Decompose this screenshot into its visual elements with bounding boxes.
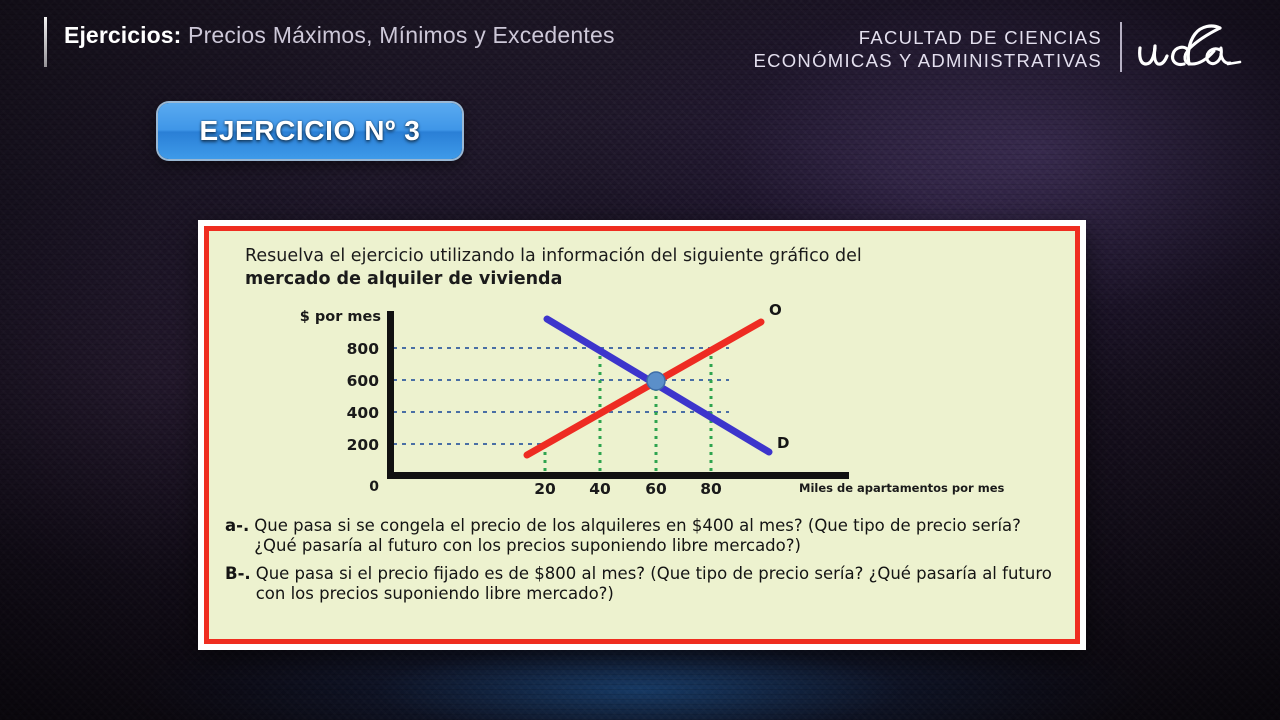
- chart-ytick-800: 800: [347, 340, 380, 358]
- question-item-a: a-. Que pasa si se congela el precio de …: [225, 516, 1063, 555]
- equilibrium-point: [647, 372, 665, 390]
- chart-ytick-600: 600: [347, 372, 380, 390]
- chart-ytick-200: 200: [347, 436, 380, 454]
- question-b-marker: B-.: [225, 564, 256, 584]
- chart-axes: [387, 311, 849, 479]
- exercise-number-label: EJERCICIO Nº 3: [200, 115, 421, 147]
- chart-xtick-80: 80: [700, 480, 722, 498]
- udla-logo: [1132, 20, 1244, 76]
- question-list: a-. Que pasa si se congela el precio de …: [225, 516, 1063, 612]
- exercise-instructions-line-2: mercado de alquiler de vivienda: [245, 268, 1059, 291]
- exercise-card-inner: Resuelva el ejercicio utilizando la info…: [204, 226, 1080, 644]
- page-title-rest: Precios Máximos, Mínimos y Excedentes: [181, 22, 614, 48]
- supply-demand-chart: $ por mes: [209, 295, 1075, 503]
- exercise-instructions-line-1: Resuelva el ejercicio utilizando la info…: [245, 245, 1059, 268]
- question-a-text: Que pasa si se congela el precio de los …: [254, 516, 1063, 555]
- page-title-strong: Ejercicios:: [64, 22, 181, 48]
- question-a-marker: a-.: [225, 516, 254, 536]
- chart-y-axis-label: $ por mes: [300, 309, 381, 325]
- header-divider: [44, 17, 47, 67]
- supply-curve-label: O: [769, 301, 782, 319]
- exercise-card: Resuelva el ejercicio utilizando la info…: [198, 220, 1086, 650]
- faculty-name: FACULTAD DE CIENCIAS ECONÓMICAS Y ADMINI…: [753, 26, 1102, 72]
- question-item-b: B-. Que pasa si el precio fijado es de $…: [225, 564, 1063, 603]
- chart-x-axis-label: Miles de apartamentos por mes: [799, 481, 1004, 495]
- slide-header: Ejercicios: Precios Máximos, Mínimos y E…: [0, 0, 1280, 92]
- chart-xtick-60: 60: [645, 480, 667, 498]
- faculty-line-1: FACULTAD DE CIENCIAS: [753, 26, 1102, 49]
- page-title: Ejercicios: Precios Máximos, Mínimos y E…: [64, 22, 615, 49]
- slide-canvas: Ejercicios: Precios Máximos, Mínimos y E…: [0, 0, 1280, 720]
- chart-svg: $ por mes: [209, 295, 1069, 503]
- exercise-instructions: Resuelva el ejercicio utilizando la info…: [245, 245, 1059, 291]
- supply-curve-line: [527, 322, 761, 455]
- faculty-line-2: ECONÓMICAS Y ADMINISTRATIVAS: [753, 49, 1102, 72]
- logo-divider: [1120, 22, 1122, 72]
- exercise-number-badge[interactable]: EJERCICIO Nº 3: [158, 103, 462, 159]
- chart-ytick-400: 400: [347, 404, 380, 422]
- udla-logo-icon: [1132, 20, 1244, 76]
- chart-xtick-20: 20: [534, 480, 556, 498]
- chart-xtick-40: 40: [589, 480, 611, 498]
- demand-curve-label: D: [777, 434, 789, 452]
- question-b-text: Que pasa si el precio fijado es de $800 …: [256, 564, 1063, 603]
- chart-origin-label: 0: [369, 479, 379, 495]
